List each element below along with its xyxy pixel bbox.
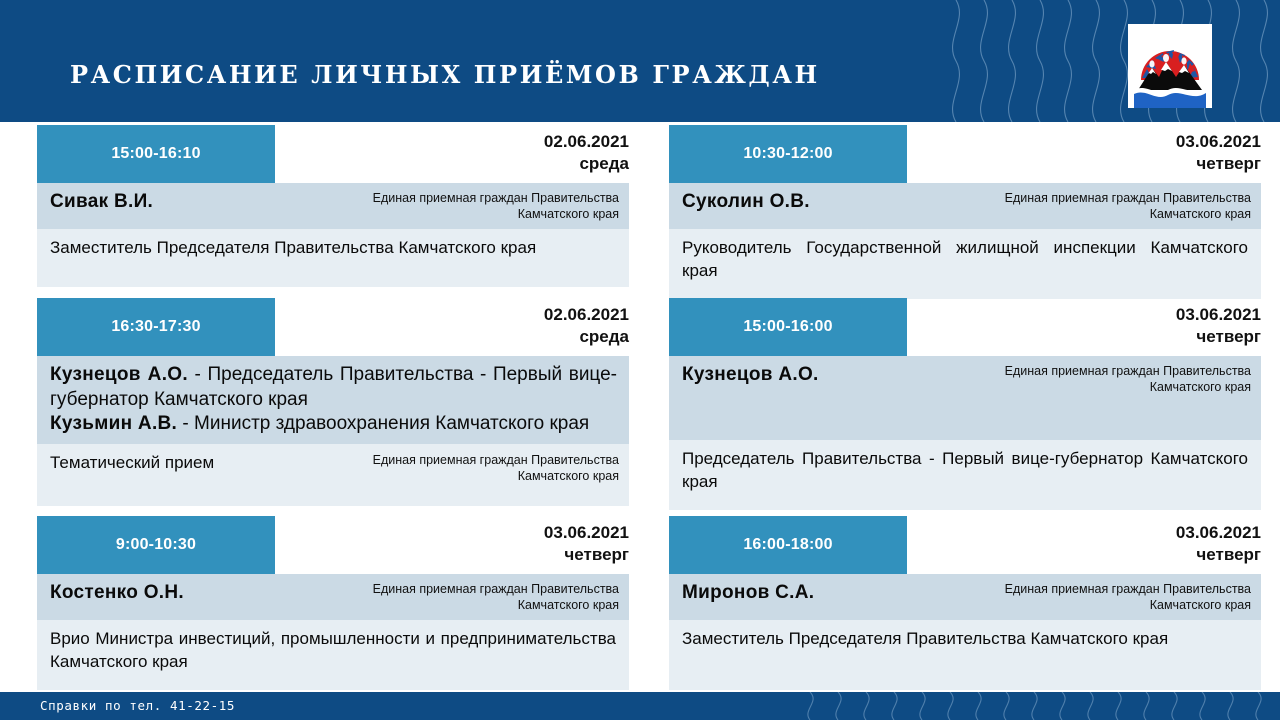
- page-title: РАСПИСАНИЕ ЛИЧНЫХ ПРИЁМОВ ГРАЖДАН: [70, 63, 820, 87]
- official-name-band: Костенко О.Н.Единая приемная граждан Пра…: [37, 574, 629, 620]
- official-name: Кузьмин А.В.: [50, 413, 177, 434]
- time-slot-chip[interactable]: 10:30-12:00: [669, 125, 907, 183]
- date-value: 02.06.2021: [544, 304, 629, 326]
- reception-venue: Единая приемная граждан Правительства Ка…: [334, 453, 619, 484]
- official-name-band: Кузнецов А.О.Единая приемная граждан Пра…: [669, 356, 1261, 440]
- date-block: 02.06.2021среда: [544, 125, 629, 175]
- position-band: Врио Министра инвестиций, промышленности…: [37, 620, 629, 690]
- position-text: Руководитель Государственной жилищной ин…: [682, 237, 1248, 283]
- date-value: 03.06.2021: [544, 522, 629, 544]
- official-list: Кузнецов А.О. - Председатель Правительст…: [50, 363, 619, 437]
- date-value: 02.06.2021: [544, 131, 629, 153]
- position-band: Руководитель Государственной жилищной ин…: [669, 229, 1261, 299]
- wave-pattern-decoration-footer: [800, 692, 1280, 720]
- time-slot-chip[interactable]: 9:00-10:30: [37, 516, 275, 574]
- date-block: 03.06.2021четверг: [1176, 125, 1261, 175]
- position-band: Заместитель Председателя Правительства К…: [37, 229, 629, 287]
- official-name-band: Сивак В.И.Единая приемная граждан Правит…: [37, 183, 629, 229]
- official-name: Сивак В.И.: [50, 191, 153, 212]
- card-header: 10:30-12:0003.06.2021четверг: [669, 125, 1261, 183]
- footer-contact-text: Справки по тел. 41-22-15: [40, 698, 235, 713]
- time-slot-chip[interactable]: 15:00-16:10: [37, 125, 275, 183]
- schedule-card: 16:00-18:0003.06.2021четвергМиронов С.А.…: [669, 516, 1261, 690]
- position-band: Заместитель Председателя Правительства К…: [669, 620, 1261, 690]
- reception-venue: Единая приемная граждан Правительства Ка…: [966, 191, 1251, 222]
- time-slot-chip[interactable]: 15:00-16:00: [669, 298, 907, 356]
- weekday-value: четверг: [1176, 544, 1261, 566]
- reception-venue: Единая приемная граждан Правительства Ка…: [966, 582, 1251, 613]
- position-text: Тематический прием: [50, 452, 330, 475]
- official-name-band: Суколин О.В.Единая приемная граждан Прав…: [669, 183, 1261, 229]
- position-text: Председатель Правительства - Первый вице…: [682, 448, 1248, 494]
- page-header: РАСПИСАНИЕ ЛИЧНЫХ ПРИЁМОВ ГРАЖДАН: [0, 0, 1280, 122]
- card-header: 15:00-16:1002.06.2021среда: [37, 125, 629, 183]
- position-text: Заместитель Председателя Правительства К…: [50, 237, 616, 260]
- weekday-value: четверг: [1176, 153, 1261, 175]
- official-name: Кузнецов А.О.: [682, 364, 819, 385]
- date-block: 02.06.2021среда: [544, 298, 629, 348]
- official-entry: Кузьмин А.В. - Министр здравоохранения К…: [50, 412, 619, 437]
- position-band: Тематический приемЕдиная приемная гражда…: [37, 444, 629, 506]
- kamchatka-krai-coat-of-arms-icon: [1128, 24, 1212, 108]
- reception-venue: Единая приемная граждан Правительства Ка…: [966, 364, 1251, 395]
- weekday-value: четверг: [544, 544, 629, 566]
- time-slot-chip[interactable]: 16:30-17:30: [37, 298, 275, 356]
- weekday-value: среда: [544, 326, 629, 348]
- official-name: Костенко О.Н.: [50, 582, 184, 603]
- page-footer: Справки по тел. 41-22-15: [0, 692, 1280, 720]
- schedule-card: 15:00-16:0003.06.2021четвергКузнецов А.О…: [669, 298, 1261, 510]
- official-name: Миронов С.А.: [682, 582, 814, 603]
- schedule-card: 16:30-17:3002.06.2021средаКузнецов А.О. …: [37, 298, 629, 506]
- card-header: 9:00-10:3003.06.2021четверг: [37, 516, 629, 574]
- card-header: 15:00-16:0003.06.2021четверг: [669, 298, 1261, 356]
- weekday-value: четверг: [1176, 326, 1261, 348]
- official-inline-role: - Министр здравоохранения Камчатского кр…: [177, 413, 589, 434]
- card-header: 16:00-18:0003.06.2021четверг: [669, 516, 1261, 574]
- official-name-band: Кузнецов А.О. - Председатель Правительст…: [37, 356, 629, 444]
- reception-venue: Единая приемная граждан Правительства Ка…: [334, 191, 619, 222]
- reception-venue: Единая приемная граждан Правительства Ка…: [334, 582, 619, 613]
- position-text: Врио Министра инвестиций, промышленности…: [50, 628, 616, 674]
- wave-pattern-decoration: [950, 0, 1280, 122]
- date-value: 03.06.2021: [1176, 522, 1261, 544]
- official-name: Кузнецов А.О.: [50, 364, 188, 385]
- date-block: 03.06.2021четверг: [1176, 298, 1261, 348]
- date-value: 03.06.2021: [1176, 131, 1261, 153]
- weekday-value: среда: [544, 153, 629, 175]
- date-block: 03.06.2021четверг: [544, 516, 629, 566]
- time-slot-chip[interactable]: 16:00-18:00: [669, 516, 907, 574]
- schedule-card: 9:00-10:3003.06.2021четвергКостенко О.Н.…: [37, 516, 629, 690]
- position-band: Председатель Правительства - Первый вице…: [669, 440, 1261, 510]
- date-value: 03.06.2021: [1176, 304, 1261, 326]
- date-block: 03.06.2021четверг: [1176, 516, 1261, 566]
- schedule-card: 15:00-16:1002.06.2021средаСивак В.И.Един…: [37, 125, 629, 287]
- official-name-band: Миронов С.А.Единая приемная граждан Прав…: [669, 574, 1261, 620]
- official-name: Суколин О.В.: [682, 191, 810, 212]
- card-header: 16:30-17:3002.06.2021среда: [37, 298, 629, 356]
- official-entry: Кузнецов А.О. - Председатель Правительст…: [50, 363, 619, 412]
- position-text: Заместитель Председателя Правительства К…: [682, 628, 1248, 651]
- schedule-board: 15:00-16:1002.06.2021средаСивак В.И.Един…: [0, 125, 1280, 685]
- schedule-card: 10:30-12:0003.06.2021четвергСуколин О.В.…: [669, 125, 1261, 299]
